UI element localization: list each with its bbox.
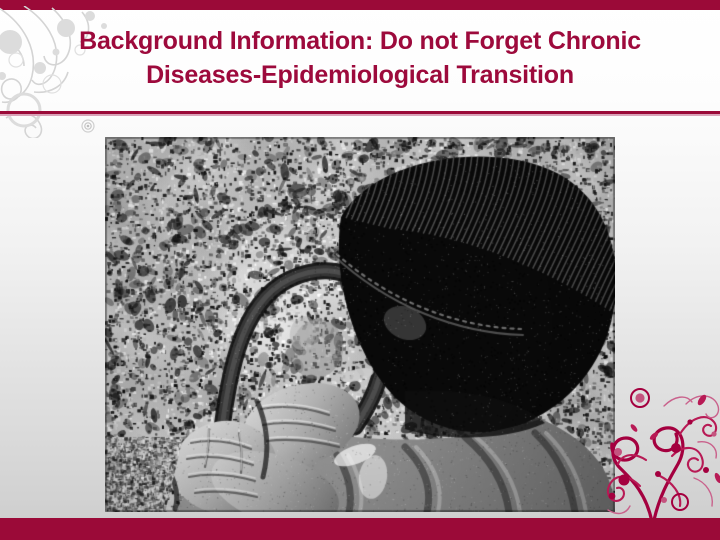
page-title-line-1: Background Information: Do not Forget Ch… [79,27,641,55]
presentation-slide: Background Information: Do not Forget Ch… [0,0,720,540]
slide-title-block: Background Information: Do not Forget Ch… [0,24,720,92]
header-accent-bar [0,0,720,10]
photo-canvas [105,137,615,512]
page-title: Background Information: Do not Forget Ch… [0,24,720,92]
footer-accent-bar [0,518,720,540]
title-divider-rule-soft [0,114,720,116]
elderly-man-with-cane-photo [105,137,615,512]
target-ring-icon [81,119,95,133]
page-title-line-2: Diseases-Epidemiological Transition [146,61,574,89]
